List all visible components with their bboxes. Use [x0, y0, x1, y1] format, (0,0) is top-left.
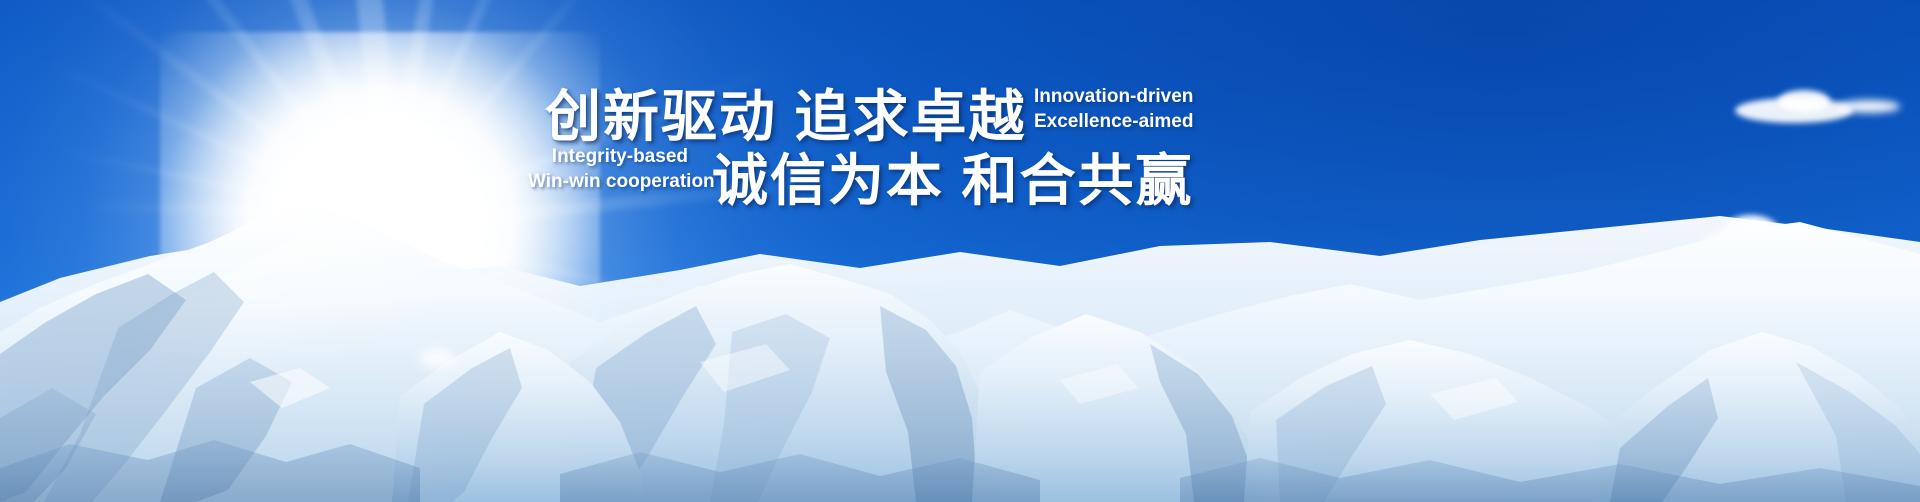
- hero-banner: 创新驱动 追求卓越 诚信为本 和合共赢 Innovation-driven Ex…: [0, 0, 1920, 502]
- mountain-svg: [0, 182, 1920, 502]
- foreground-rock-left: [0, 440, 420, 502]
- mountain-range: [0, 182, 1920, 502]
